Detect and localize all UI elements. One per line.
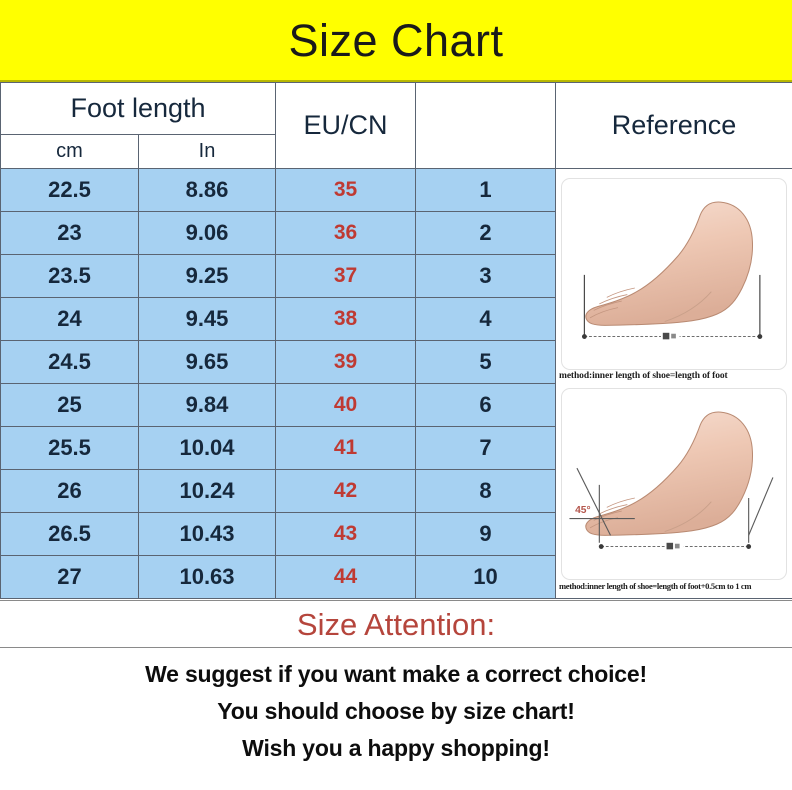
header-in: In (139, 135, 276, 169)
cell-us: 5 (416, 341, 556, 384)
cell-in: 9.45 (139, 298, 276, 341)
cell-us: 8 (416, 470, 556, 513)
cell-eu-cn: 38 (276, 298, 416, 341)
header-foot-length: Foot length (1, 83, 276, 135)
cell-eu-cn: 42 (276, 470, 416, 513)
cell-us: 3 (416, 255, 556, 298)
foot-diagram-caption-2: method:inner length of shoe=length of fo… (556, 580, 792, 594)
cell-us: 7 (416, 427, 556, 470)
cell-in: 9.65 (139, 341, 276, 384)
cell-us: 9 (416, 513, 556, 556)
cell-eu-cn: 36 (276, 212, 416, 255)
cell-in: 10.24 (139, 470, 276, 513)
cell-eu-cn: 44 (276, 556, 416, 599)
footer-advisory: We suggest if you want make a correct ch… (0, 650, 792, 790)
header-reference: Reference (556, 83, 792, 169)
cell-cm: 25 (1, 384, 139, 427)
cell-cm: 22.5 (1, 169, 139, 212)
advisory-line-3: Wish you a happy shopping! (242, 730, 550, 767)
header-us-blank (416, 83, 556, 169)
foot-side-view-with-angle-icon: 45° (562, 389, 786, 579)
reference-figure-stack: method:inner length of shoe=length of fo… (556, 174, 792, 594)
table-header-row-top: Foot length EU/CN Reference (1, 83, 792, 135)
size-table-container: Foot length EU/CN Reference cm In 22.5 8… (0, 80, 792, 596)
cell-cm: 26 (1, 470, 139, 513)
cell-cm: 25.5 (1, 427, 139, 470)
size-table: Foot length EU/CN Reference cm In 22.5 8… (0, 82, 792, 599)
cell-eu-cn: 39 (276, 341, 416, 384)
size-chart-page: Size Chart Foot length EU/CN Reference c… (0, 0, 792, 790)
cell-cm: 24.5 (1, 341, 139, 384)
advisory-line-1: We suggest if you want make a correct ch… (145, 656, 647, 693)
cell-cm: 24 (1, 298, 139, 341)
header-eu-cn: EU/CN (276, 83, 416, 169)
table-row: 22.5 8.86 35 1 (1, 169, 792, 212)
reference-figure-2: 45° (556, 384, 792, 594)
foot-diagram-caption-1: method:inner length of shoe=length of fo… (556, 370, 792, 384)
cell-us: 10 (416, 556, 556, 599)
cell-in: 9.25 (139, 255, 276, 298)
size-attention-band: Size Attention: (0, 600, 792, 648)
cell-cm: 23 (1, 212, 139, 255)
foot-side-view-icon (562, 179, 786, 369)
reference-figure-1: method:inner length of shoe=length of fo… (556, 174, 792, 384)
cell-us: 1 (416, 169, 556, 212)
cell-eu-cn: 37 (276, 255, 416, 298)
cell-in: 9.84 (139, 384, 276, 427)
advisory-line-2: You should choose by size chart! (217, 693, 574, 730)
cell-in: 9.06 (139, 212, 276, 255)
cell-cm: 27 (1, 556, 139, 599)
cell-eu-cn: 41 (276, 427, 416, 470)
cell-us: 6 (416, 384, 556, 427)
cell-in: 10.63 (139, 556, 276, 599)
foot-diagram-card-1 (561, 178, 787, 370)
cell-cm: 23.5 (1, 255, 139, 298)
cell-us: 2 (416, 212, 556, 255)
header-cm: cm (1, 135, 139, 169)
cell-in: 10.43 (139, 513, 276, 556)
cell-eu-cn: 43 (276, 513, 416, 556)
cell-eu-cn: 40 (276, 384, 416, 427)
cell-eu-cn: 35 (276, 169, 416, 212)
size-table-body: 22.5 8.86 35 1 (1, 169, 792, 599)
foot-diagram-card-2: 45° (561, 388, 787, 580)
cell-in: 10.04 (139, 427, 276, 470)
angle-label: 45° (575, 504, 591, 515)
title-banner: Size Chart (0, 0, 792, 80)
size-attention-heading: Size Attention: (297, 609, 495, 640)
page-title: Size Chart (288, 18, 503, 63)
cell-cm: 26.5 (1, 513, 139, 556)
cell-us: 4 (416, 298, 556, 341)
cell-reference-images: method:inner length of shoe=length of fo… (556, 169, 792, 599)
cell-in: 8.86 (139, 169, 276, 212)
